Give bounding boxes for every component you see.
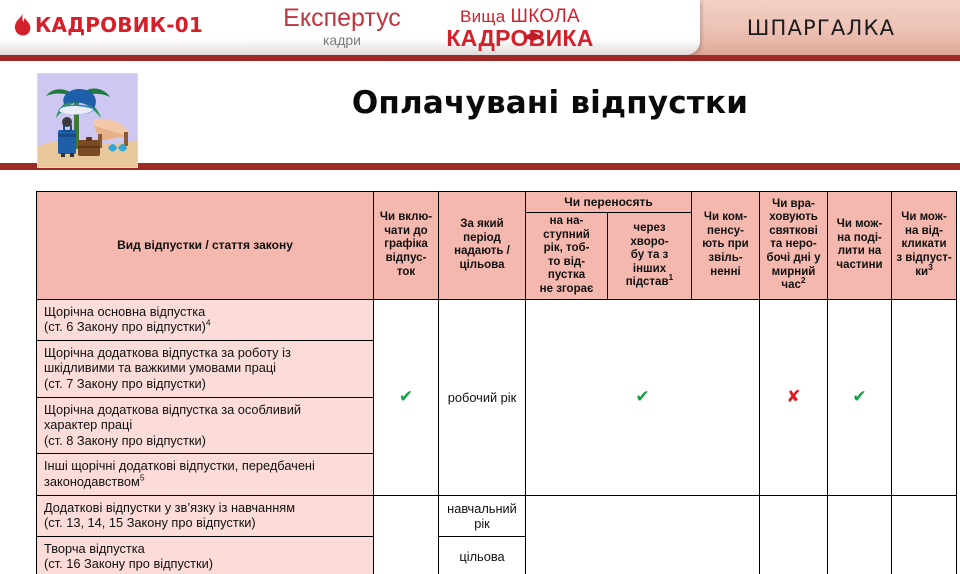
th-recall-l3: кликати <box>901 238 946 250</box>
th-recall-l5: ки <box>915 266 928 278</box>
th-next-year-l4: то від- <box>548 256 585 268</box>
cell-leave-type: Творча відпустка (ст. 16 Закону про відп… <box>37 536 374 574</box>
cell-transfer-and-compensation: ✔ <box>526 299 760 495</box>
th-holidays-l4: та неро- <box>770 238 816 250</box>
cell-leave-type: Інші щорічні додаткові відпустки, передб… <box>37 454 374 495</box>
row5-name-l2: (ст. 16 Закону про відпустки) <box>44 556 213 571</box>
th-split-l4: частини <box>836 259 882 271</box>
th-include-l3: графіка <box>384 238 428 250</box>
th-include-l2: чати до <box>384 225 427 237</box>
th-next-year-l6: не згорає <box>540 283 594 295</box>
header-divider-bottom <box>0 163 960 170</box>
table-row[interactable]: Додаткові відпустки у зв’язку із навчанн… <box>37 495 957 536</box>
logo-expertus[interactable]: Експертус кадри <box>272 5 412 48</box>
cell-leave-type: Додаткові відпустки у зв’язку із навчанн… <box>37 495 374 536</box>
cell-period: робочий рік <box>439 299 526 495</box>
logo-vsk-line2-text: КАДРОВИКА <box>446 25 593 51</box>
row0-name-l2: (ст. 6 Закону про відпустки) <box>44 319 206 334</box>
cell-leave-type: Щорічна додаткова відпустка за особливий… <box>37 397 374 454</box>
th-recall-l4: з відпуст- <box>896 252 951 264</box>
th-compensation-l3: ють при <box>702 238 748 250</box>
logo-kadrovik-01[interactable]: КАДРОВИК-01 <box>14 13 203 37</box>
th-period-l4: цільова <box>460 259 505 271</box>
th-can-recall: Чи мож- на від- кликати з відпуст- ки3 <box>892 192 957 300</box>
graduation-cap-icon <box>523 20 543 29</box>
logo-expertus-line2: кадри <box>272 32 412 48</box>
row0-name-l1: Щорічна основна відпустка <box>44 304 205 319</box>
row4-name-l2: (ст. 13, 14, 15 Закону про відпустки) <box>44 515 256 530</box>
th-holidays-l6: мирний <box>772 266 816 278</box>
th-compensation-l2: пенсу- <box>707 225 744 237</box>
th-next-year-l5: пустка <box>548 269 585 281</box>
th-period-l2: період <box>463 232 501 244</box>
row3-name-l1: Інші щорічні додаткові відпустки, передб… <box>44 458 315 473</box>
cell-can-split <box>828 495 892 574</box>
th-include-l1: Чи вклю- <box>380 211 432 223</box>
th-recall-l2: на від- <box>905 225 943 237</box>
check-icon: ✔ <box>399 387 413 407</box>
cell-period: цільова <box>439 536 526 574</box>
th-illness-l5: підстав <box>626 276 669 288</box>
vacation-illustration <box>37 73 138 168</box>
row1-name-l2: шкідливими та важкими умовами праці <box>44 360 276 375</box>
row5-name-l1: Творча відпустка <box>44 541 145 556</box>
cross-icon: ✘ <box>786 387 800 407</box>
th-leave-type: Вид відпустки / стаття закону <box>37 192 374 300</box>
th-illness-l4: інших <box>633 263 666 275</box>
row2-name-l1: Щорічна додаткова відпустка за особливий <box>44 402 301 417</box>
row4-name-l1: Додаткові відпустки у зв’язку із навчанн… <box>44 500 295 515</box>
check-icon: ✔ <box>635 387 649 407</box>
cell-include-in-schedule: ✔ <box>374 299 439 495</box>
check-icon: ✔ <box>852 387 866 407</box>
cell-holidays-counted: ✘ <box>760 299 828 495</box>
th-holidays-l3: святкові <box>769 225 818 237</box>
th-compensation-l5: ненні <box>710 266 740 278</box>
th-compensation: Чи ком- пенсу- ють при звіль- ненні <box>692 192 760 300</box>
th-compensation-l1: Чи ком- <box>704 211 747 223</box>
cell-include-in-schedule <box>374 495 439 574</box>
th-recall-l1: Чи мож- <box>901 211 947 223</box>
cheatsheet-table-wrapper: Вид відпустки / стаття закону Чи вклю- ч… <box>0 191 960 574</box>
th-split-l2: на поді- <box>837 232 882 244</box>
th-holidays-l7: час <box>781 279 800 291</box>
th-next-year-l3: рік, тоб- <box>544 242 590 254</box>
th-compensation-l4: звіль- <box>708 252 742 264</box>
cell-leave-type: Щорічна додаткова відпустка за роботу із… <box>37 340 374 397</box>
title-band: Оплачувані відпустки <box>0 61 960 163</box>
th-holidays-l2: ховують <box>769 211 818 223</box>
paid-leave-table: Вид відпустки / стаття закону Чи вклю- ч… <box>36 191 957 574</box>
th-holidays-l5: бочі дні у <box>767 252 821 264</box>
th-next-year-l2: ступний <box>543 229 590 241</box>
logo-vyshcha-shkola-kadrovyka[interactable]: Вища ШКОЛА КАДРОВИКА <box>430 6 610 52</box>
logo-kadrovik-01-text: КАДРОВИК-01 <box>35 13 203 37</box>
row2-name-l3: (ст. 8 Закону про відпустки) <box>44 433 206 448</box>
logo-expertus-line1: Експертус <box>272 5 412 31</box>
th-illness-l3: бу та з <box>631 249 668 261</box>
th-holidays-counted: Чи вра- ховують святкові та неро- бочі д… <box>760 192 828 300</box>
cell-can-recall <box>892 495 957 574</box>
cell-holidays-counted <box>760 495 828 574</box>
th-transfer-illness: через хворо- бу та з інших підстав1 <box>608 213 692 299</box>
app-header-bar: КАДРОВИК-01 Експертус кадри Вища ШКОЛА К… <box>0 0 960 55</box>
cell-transfer-and-compensation <box>526 495 760 574</box>
th-recall-footnote: 3 <box>928 262 933 272</box>
row3-footnote: 5 <box>140 473 145 483</box>
table-row[interactable]: Щорічна основна відпустка (ст. 6 Закону … <box>37 299 957 340</box>
th-period-l3: надають / <box>454 245 510 257</box>
th-transfer-next-year: на на- ступний рік, тоб- то від- пустка … <box>526 213 608 299</box>
table-body: Щорічна основна відпустка (ст. 6 Закону … <box>37 299 957 574</box>
th-period-l1: За який <box>460 218 503 230</box>
th-illness-l2: хворо- <box>630 236 668 248</box>
row1-name-l3: (ст. 7 Закону про відпустки) <box>44 376 206 391</box>
cell-leave-type: Щорічна основна відпустка (ст. 6 Закону … <box>37 299 374 340</box>
th-include-in-schedule: Чи вклю- чати до графіка відпус- ток <box>374 192 439 300</box>
page-title: Оплачувані відпустки <box>180 85 920 121</box>
th-group-transfer: Чи переносять <box>526 192 692 213</box>
row2-name-l2: характер праці <box>44 417 132 432</box>
cheat-sheet-badge: ШПАРГАЛКА <box>682 0 960 55</box>
row0-footnote: 4 <box>206 318 211 328</box>
th-split-l1: Чи мож- <box>837 218 883 230</box>
logo-vsk-line1-main: ШКОЛА <box>511 6 580 27</box>
th-can-split: Чи мож- на поді- лити на частини <box>828 192 892 300</box>
th-holidays-footnote: 2 <box>801 275 806 285</box>
logo-vsk-line2: КАДРОВИКА <box>430 25 610 52</box>
th-next-year-l1: на на- <box>550 215 584 227</box>
th-illness-l1: через <box>633 222 665 234</box>
cell-can-recall <box>892 299 957 495</box>
cell-period: навчальний рік <box>439 495 526 536</box>
row1-name-l1: Щорічна додаткова відпустка за роботу із <box>44 345 291 360</box>
th-include-l4: відпус- <box>386 252 427 264</box>
th-holidays-l1: Чи вра- <box>772 198 815 210</box>
spacer <box>0 170 960 191</box>
logo-vsk-line1-prefix: Вища <box>460 7 511 26</box>
flame-icon <box>14 13 31 37</box>
table-header-row-1: Вид відпустки / стаття закону Чи вклю- ч… <box>37 192 957 213</box>
row3-name-l2: законодавством <box>44 474 140 489</box>
table-header: Вид відпустки / стаття закону Чи вклю- ч… <box>37 192 957 300</box>
th-include-l5: ток <box>397 266 415 278</box>
th-period: За який період надають / цільова <box>439 192 526 300</box>
th-split-l3: лити на <box>838 245 882 257</box>
cell-can-split: ✔ <box>828 299 892 495</box>
th-illness-footnote: 1 <box>669 272 674 282</box>
